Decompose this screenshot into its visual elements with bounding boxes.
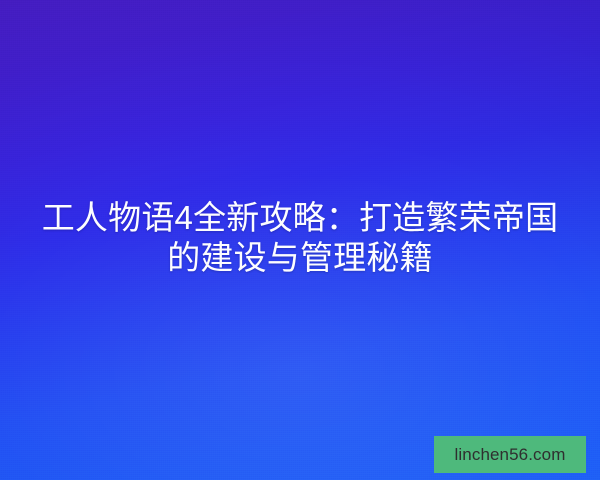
watermark-badge: linchen56.com xyxy=(434,436,586,473)
watermark-site-label: linchen56.com xyxy=(455,446,566,463)
banner-headline: 工人物语4全新攻略：打造繁荣帝国的建设与管理秘籍 xyxy=(30,198,570,278)
article-cover-banner: 工人物语4全新攻略：打造繁荣帝国的建设与管理秘籍 linchen56.com xyxy=(0,0,600,480)
